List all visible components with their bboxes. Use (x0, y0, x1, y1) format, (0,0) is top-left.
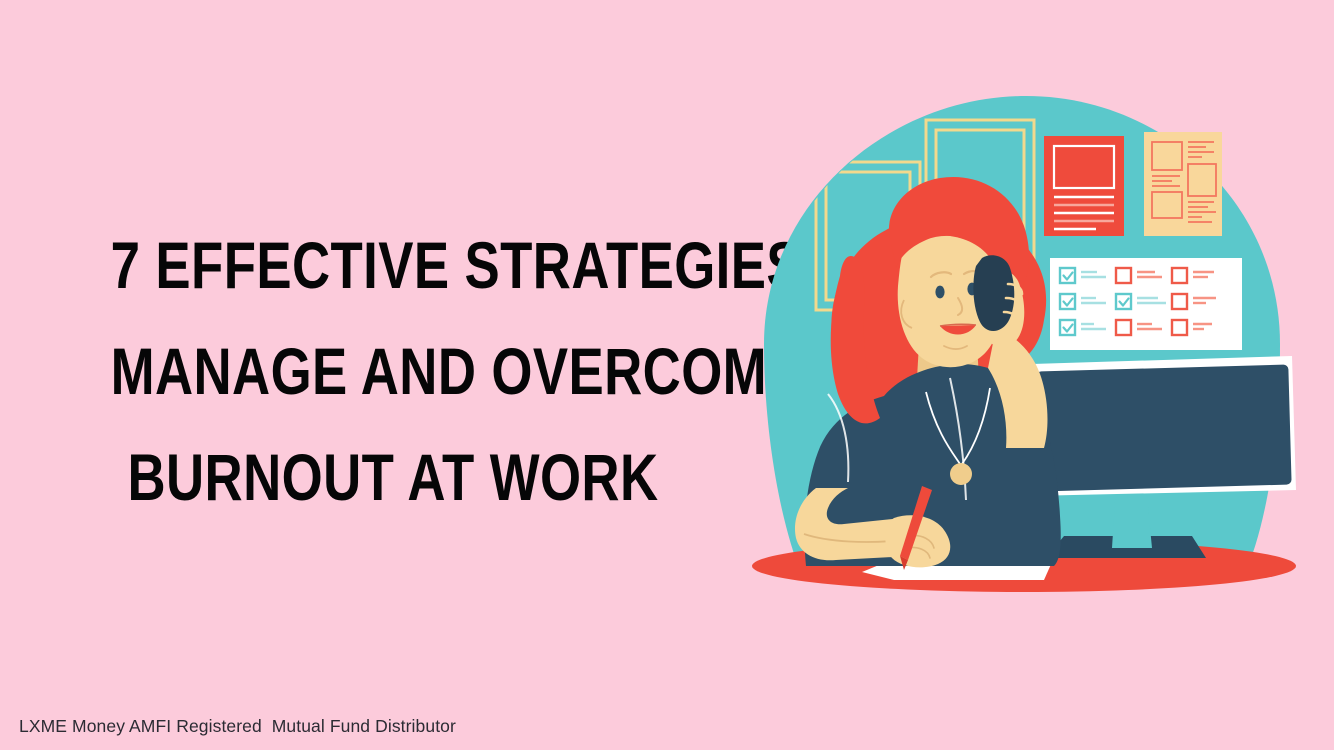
illustration-woman-on-phone-at-desk (744, 96, 1304, 606)
mobile-phone (973, 255, 1014, 331)
wall-poster-red (1044, 136, 1124, 236)
footer-attribution: LXME Money AMFI Registered Mutual Fund D… (19, 716, 456, 737)
title-line-1: 7 EFFECTIVE STRATEGIES TO (111, 212, 676, 318)
title-line-3: BURNOUT AT WORK (111, 424, 676, 530)
necklace-pendant (950, 463, 972, 485)
eye-left (935, 286, 944, 299)
monitor-screen (1036, 365, 1291, 492)
wall-poster-yellow (1144, 132, 1222, 236)
page-title: 7 EFFECTIVE STRATEGIES TO MANAGE AND OVE… (40, 212, 746, 530)
slide-canvas: 7 EFFECTIVE STRATEGIES TO MANAGE AND OVE… (0, 0, 1334, 750)
title-line-2: MANAGE AND OVERCOME (111, 318, 676, 424)
checklist-board (1050, 258, 1242, 350)
